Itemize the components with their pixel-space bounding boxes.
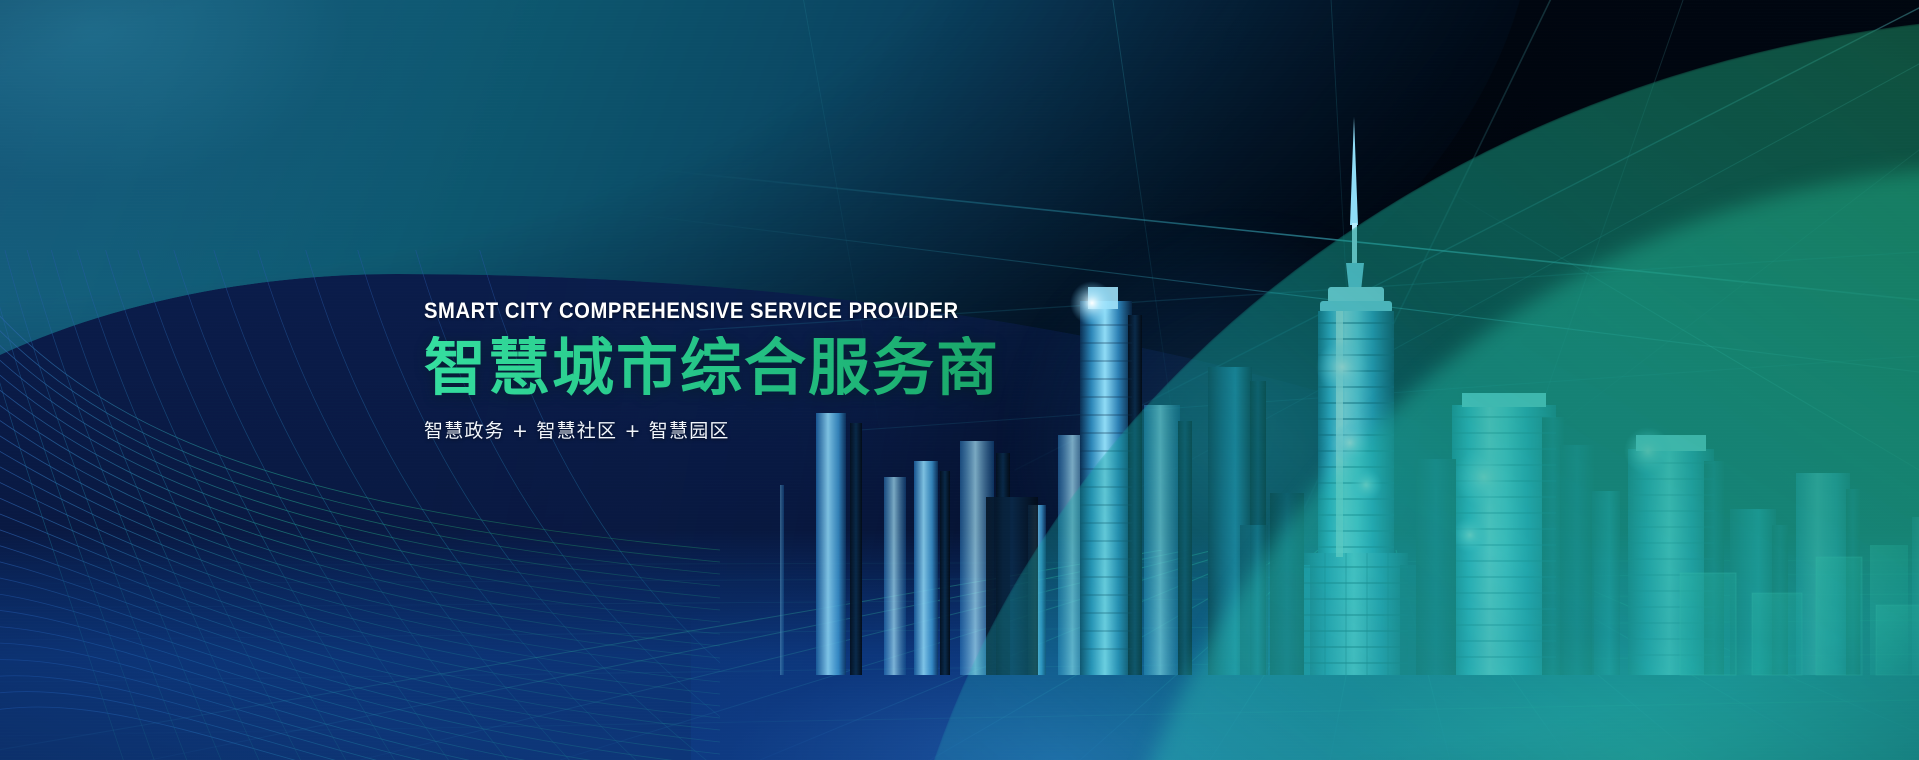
hero-copy-block: SMART CITY COMPREHENSIVE SERVICE PROVIDE… bbox=[424, 300, 1144, 443]
hero-eyebrow-english: SMART CITY COMPREHENSIVE SERVICE PROVIDE… bbox=[424, 300, 1086, 322]
hero-headline-chinese: 智慧城市综合服务商 bbox=[424, 336, 1144, 400]
decorative-glow-green bbox=[864, 410, 1919, 760]
hero-subline-services: 智慧政务 + 智慧社区 + 智慧园区 bbox=[424, 416, 1144, 443]
smart-city-hero-banner: SMART CITY COMPREHENSIVE SERVICE PROVIDE… bbox=[0, 0, 1919, 760]
